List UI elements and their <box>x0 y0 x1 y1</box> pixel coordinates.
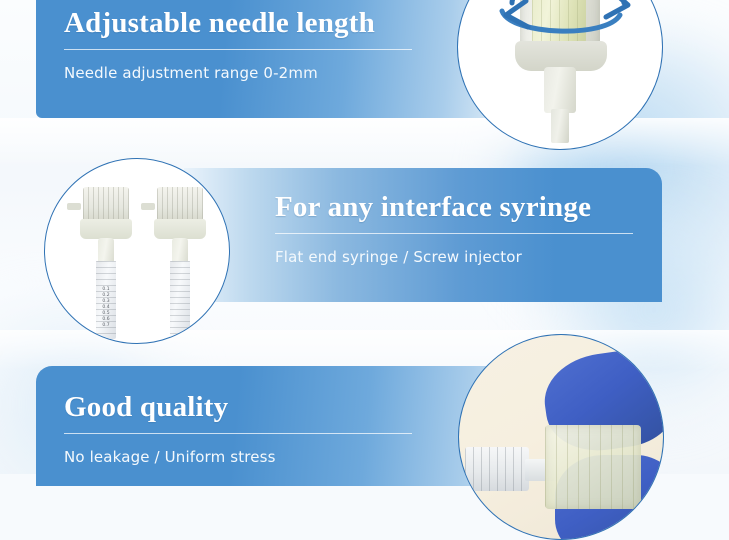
feature-title-3: Good quality <box>64 392 414 422</box>
syringe-right-shoulder <box>154 219 206 239</box>
syringe-right-cap-ribs <box>157 187 203 221</box>
feature-subtitle-1: Needle adjustment range 0-2mm <box>64 64 414 82</box>
rotation-arrow-icon <box>488 0 648 67</box>
feature-text-block-1: Adjustable needle length Needle adjustme… <box>64 8 414 82</box>
syringe-left-scale-marks: 0.1 0.2 0.3 0.4 0.5 0.6 0.7 <box>96 287 116 329</box>
feature-photo-for-any-interface-syringe: 0.1 0.2 0.3 0.4 0.5 0.6 0.7 <box>44 158 230 344</box>
feature-text-block-3: Good quality No leakage / Uniform stress <box>64 392 414 466</box>
quality-syringe-barrel-ribs <box>465 447 529 491</box>
needle-hub-tip <box>551 109 569 143</box>
feature-text-block-2: For any interface syringe Flat end syrin… <box>275 192 645 266</box>
feature-subtitle-2: Flat end syringe / Screw injector <box>275 248 645 266</box>
feature-divider-3 <box>64 433 412 434</box>
syringe-left-shoulder <box>80 219 132 239</box>
feature-title-1: Adjustable needle length <box>64 8 414 38</box>
feature-photo-good-quality <box>458 334 664 540</box>
feature-panel-for-any-interface-syringe: For any interface syringe Flat end syrin… <box>184 168 662 302</box>
quality-device-block-ribs <box>545 425 641 509</box>
syringe-right-ear <box>141 203 155 210</box>
feature-divider-2 <box>275 233 633 234</box>
syringe-left-cap-ribs <box>83 187 129 221</box>
syringe-left-ear <box>67 203 81 210</box>
scale-mark: 0.7 <box>96 323 116 329</box>
needle-hub-neck <box>544 67 576 113</box>
syringe-right-barrel-ticks <box>170 261 190 339</box>
feature-divider-1 <box>64 49 412 50</box>
feature-subtitle-3: No leakage / Uniform stress <box>64 448 414 466</box>
feature-title-2: For any interface syringe <box>275 192 645 222</box>
